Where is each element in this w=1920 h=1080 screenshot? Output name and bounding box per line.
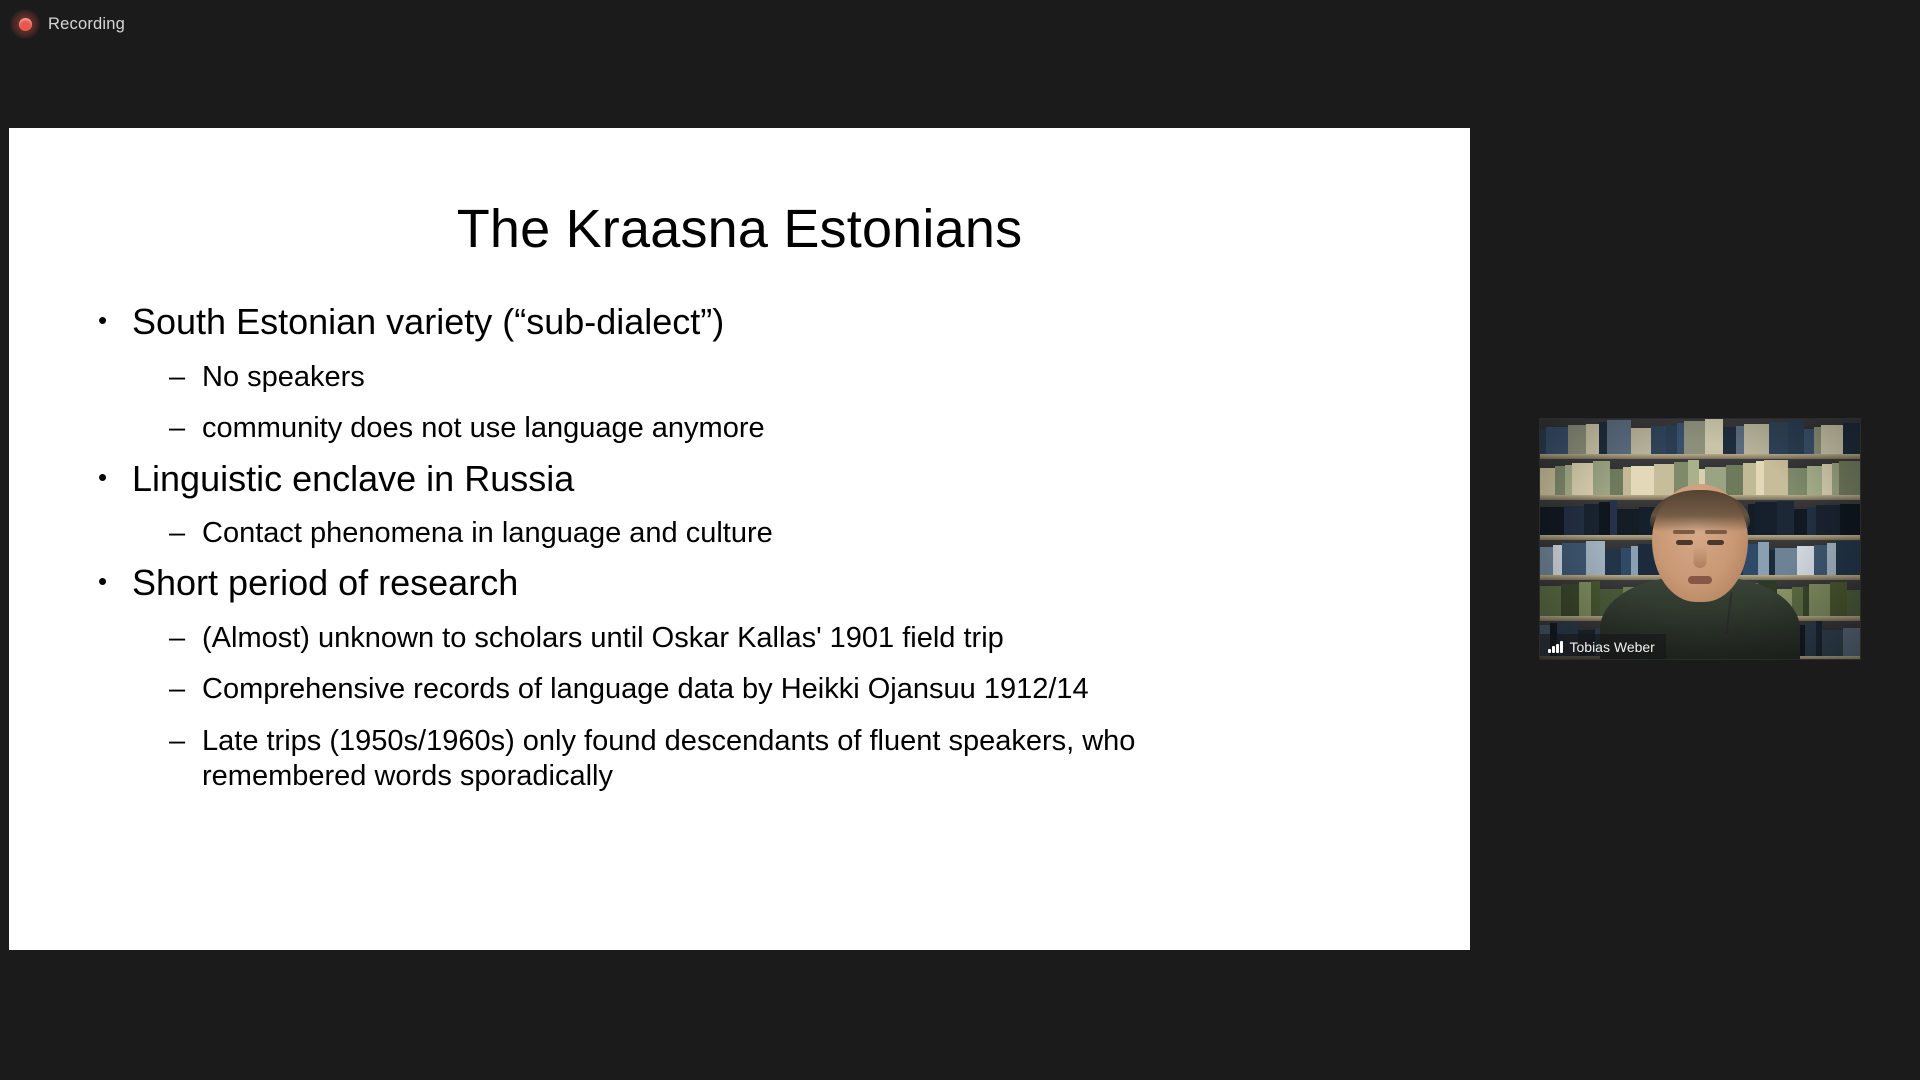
- bullet-marker-level1: •: [98, 562, 132, 601]
- bullet-text: (Almost) unknown to scholars until Oskar…: [202, 621, 1292, 656]
- bullet-item: • Linguistic enclave in Russia: [98, 458, 1414, 500]
- participant-name-label: Tobias Weber: [1570, 639, 1655, 655]
- bullet-item: – community does not use language anymor…: [169, 411, 1414, 446]
- bullet-marker-level2: –: [169, 360, 202, 395]
- participant-name-chip: Tobias Weber: [1540, 634, 1666, 659]
- bullet-item: – (Almost) unknown to scholars until Osk…: [169, 621, 1414, 656]
- bullet-marker-level2: –: [169, 516, 202, 551]
- bullet-item: • South Estonian variety (“sub-dialect”): [98, 301, 1414, 343]
- bullet-text: Comprehensive records of language data b…: [202, 672, 1292, 707]
- bullet-item: – Late trips (1950s/1960s) only found de…: [169, 724, 1414, 795]
- bullet-marker-level2: –: [169, 411, 202, 446]
- bullet-text: community does not use language anymore: [202, 411, 1292, 446]
- bullet-text: Short period of research: [132, 562, 1414, 604]
- video-vignette: [1540, 419, 1860, 659]
- bullet-marker-level2: –: [169, 724, 202, 759]
- shared-slide[interactable]: The Kraasna Estonians • South Estonian v…: [9, 128, 1470, 950]
- bullet-text: Linguistic enclave in Russia: [132, 458, 1414, 500]
- participant-video-tile[interactable]: Tobias Weber: [1539, 418, 1861, 660]
- bullet-text: Late trips (1950s/1960s) only found desc…: [202, 724, 1292, 795]
- recording-indicator: Recording: [0, 0, 125, 48]
- meeting-screen-share-view: Recording The Kraasna Estonians • South …: [0, 0, 1920, 1080]
- bullet-item: – No speakers: [169, 360, 1414, 395]
- slide-title: The Kraasna Estonians: [65, 200, 1414, 259]
- bullet-text: South Estonian variety (“sub-dialect”): [132, 301, 1414, 343]
- bullet-marker-level2: –: [169, 672, 202, 707]
- bullet-item: • Short period of research: [98, 562, 1414, 604]
- bullet-marker-level2: –: [169, 621, 202, 656]
- bullet-marker-level1: •: [98, 458, 132, 497]
- bullet-item: – Comprehensive records of language data…: [169, 672, 1414, 707]
- bullet-text: No speakers: [202, 360, 1292, 395]
- bullet-marker-level1: •: [98, 301, 132, 340]
- signal-strength-icon: [1548, 641, 1563, 653]
- recording-label: Recording: [48, 15, 125, 34]
- slide-content: The Kraasna Estonians • South Estonian v…: [9, 128, 1470, 950]
- slide-bullet-list: • South Estonian variety (“sub-dialect”)…: [65, 301, 1414, 794]
- record-dot-icon: [14, 13, 36, 35]
- bullet-text: Contact phenomena in language and cultur…: [202, 516, 1292, 551]
- bullet-item: – Contact phenomena in language and cult…: [169, 516, 1414, 551]
